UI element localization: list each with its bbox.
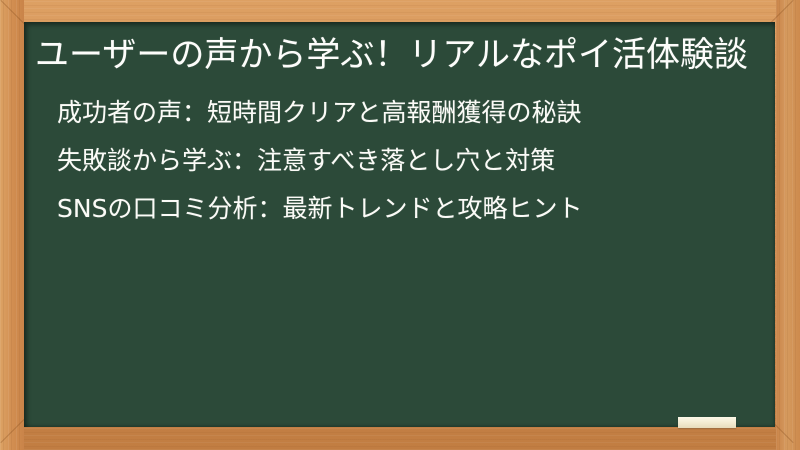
blackboard-content: ユーザーの声から学ぶ！リアルなポイ活体験談 成功者の声：短時間クリアと高報酬獲得… [24, 22, 775, 427]
list-item: 成功者の声：短時間クリアと高報酬獲得の秘訣 [57, 100, 757, 125]
chalk-stick [678, 417, 736, 428]
topic-list: 成功者の声：短時間クリアと高報酬獲得の秘訣 失敗談から学ぶ：注意すべき落とし穴と… [35, 100, 757, 221]
blackboard: ユーザーの声から学ぶ！リアルなポイ活体験談 成功者の声：短時間クリアと高報酬獲得… [24, 22, 775, 427]
page-title: ユーザーの声から学ぶ！リアルなポイ活体験談 [35, 33, 757, 77]
list-item: 失敗談から学ぶ：注意すべき落とし穴と対策 [57, 148, 757, 173]
wooden-frame-left-rail [0, 0, 24, 450]
list-item: SNSの口コミ分析：最新トレンドと攻略ヒント [57, 196, 757, 221]
slide-canvas: ユーザーの声から学ぶ！リアルなポイ活体験談 成功者の声：短時間クリアと高報酬獲得… [0, 0, 800, 450]
wooden-frame-right-rail [776, 0, 800, 450]
